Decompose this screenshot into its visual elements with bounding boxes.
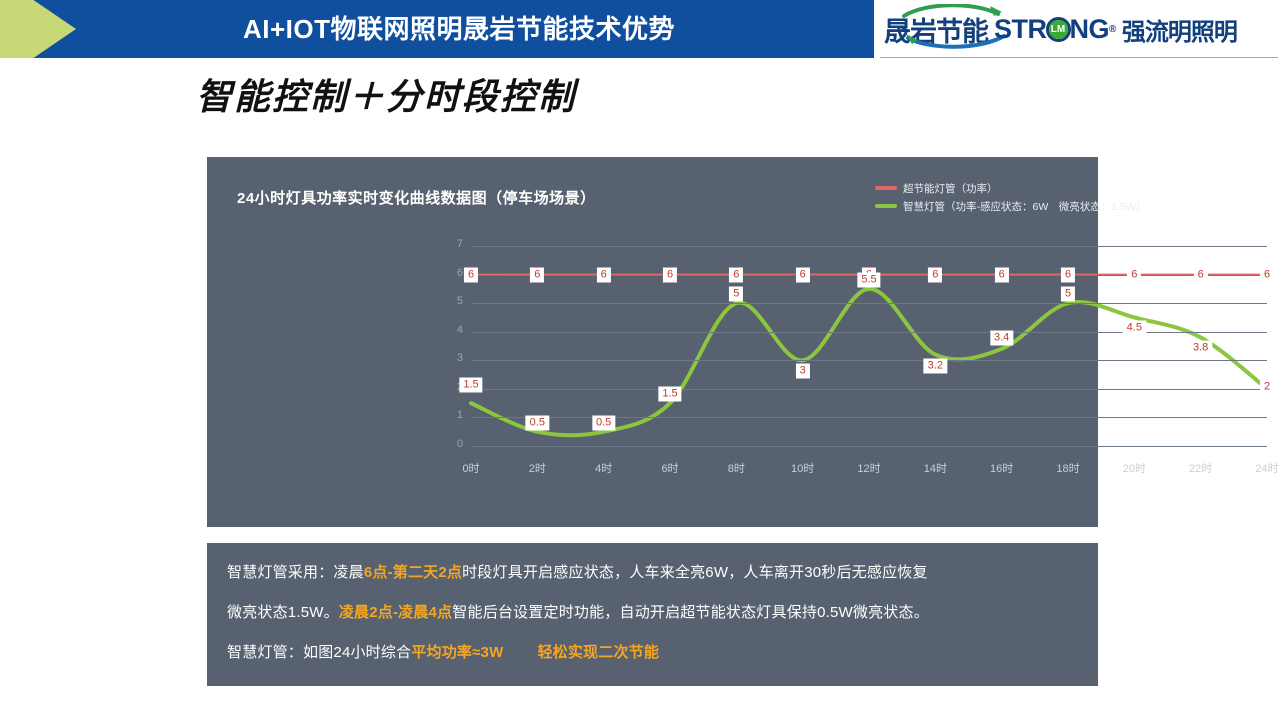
- note-text: 微亮状态1.5W。: [227, 604, 339, 621]
- logo-chinese-tail: 强流明照明: [1122, 12, 1237, 47]
- note-text: 时段灯具开启感应状态，人车来全亮6W，人车离开30秒后无感应恢复: [462, 564, 928, 581]
- logo-cn-text: 晟岩节能: [884, 17, 988, 47]
- data-label: 6: [729, 267, 743, 282]
- y-axis-tick: 0: [445, 438, 463, 450]
- chart-panel: 24小时灯具功率实时变化曲线数据图（停车场场景） 超节能灯管（功率）智慧灯管（功…: [207, 157, 1098, 527]
- data-label: 6: [663, 267, 677, 282]
- y-axis-tick: 4: [445, 324, 463, 336]
- data-label: 5: [729, 287, 743, 302]
- note-highlight: 轻松实现二次节能: [537, 644, 659, 661]
- chart-title: 24小时灯具功率实时变化曲线数据图（停车场场景）: [237, 187, 596, 208]
- data-label: 3.2: [924, 358, 947, 373]
- data-label: 4.5: [1123, 321, 1146, 336]
- gridline: [471, 446, 1267, 447]
- x-axis-tick: 0时: [462, 460, 479, 476]
- data-label: 6: [530, 267, 544, 282]
- y-axis-tick: 1: [445, 409, 463, 421]
- x-axis-tick: 4时: [595, 460, 612, 476]
- data-label: 5: [1061, 287, 1075, 302]
- note-text: 智慧灯管：如图24小时综合: [227, 644, 411, 661]
- note-text: 智能后台设置定时功能，自动开启超节能状态灯具保持0.5W微亮状态。: [452, 604, 929, 621]
- x-axis-tick: 10时: [791, 460, 814, 476]
- page-title: AI+IOT物联网照明晟岩节能技术优势: [64, 10, 854, 50]
- data-label: 6: [464, 267, 478, 282]
- note-highlight: 凌晨2点-凌晨4点: [339, 604, 452, 621]
- data-label: 6: [1061, 267, 1075, 282]
- x-axis-tick: 8时: [728, 460, 745, 476]
- note-line-1: 智慧灯管采用：凌晨6点-第二天2点时段灯具开启感应状态，人车来全亮6W，人车离开…: [227, 561, 1084, 582]
- series-line-1: [471, 289, 1267, 435]
- legend-item-0: 超节能灯管（功率）: [875, 179, 1146, 197]
- data-label: 6: [995, 267, 1009, 282]
- data-label: 6: [796, 267, 810, 282]
- y-axis-tick: 7: [445, 238, 463, 250]
- header-bar: AI+IOT物联网照明晟岩节能技术优势: [0, 0, 874, 58]
- gridline: [471, 332, 1267, 333]
- note-text: 智慧灯管采用：凌晨: [227, 564, 364, 581]
- legend-item-1: 智慧灯管（功率-感应状态：6W 微亮状态：1.5W）: [875, 197, 1146, 215]
- note-line-3: 智慧灯管：如图24小时综合平均功率≈3W轻松实现二次节能: [227, 641, 1084, 662]
- logo-strong-wordmark: STR LM NG ®: [994, 14, 1116, 45]
- gridline: [471, 246, 1267, 247]
- gridline: [471, 303, 1267, 304]
- legend-label: 智慧灯管（功率-感应状态：6W 微亮状态：1.5W）: [903, 199, 1146, 214]
- logo-lm-label: LM: [1049, 20, 1068, 39]
- gridline: [471, 389, 1267, 390]
- data-label: 3.4: [990, 330, 1013, 345]
- x-axis-tick: 12时: [857, 460, 880, 476]
- section-subtitle: 智能控制＋分时段控制: [196, 68, 576, 120]
- slide: AI+IOT物联网照明晟岩节能技术优势 晟岩节能 STR LM NG: [0, 0, 1280, 720]
- data-label: 3: [796, 364, 810, 379]
- data-label: 2: [1260, 379, 1274, 394]
- logo-o-icon: LM: [1046, 17, 1071, 42]
- data-label: 5.5: [857, 272, 880, 287]
- data-label: 1.5: [459, 378, 482, 393]
- x-axis-tick: 22时: [1189, 460, 1212, 476]
- notes-panel: 智慧灯管采用：凌晨6点-第二天2点时段灯具开启感应状态，人车来全亮6W，人车离开…: [207, 543, 1098, 686]
- note-highlight: 6点: [364, 564, 388, 581]
- logo-strong-pre: STR: [994, 14, 1047, 45]
- x-axis-tick: 20时: [1123, 460, 1146, 476]
- x-axis-tick: 24时: [1255, 460, 1278, 476]
- legend-label: 超节能灯管（功率）: [903, 181, 998, 196]
- data-label: 6: [1260, 267, 1274, 282]
- logo-underline: [880, 57, 1278, 58]
- legend-swatch-icon: [875, 204, 897, 208]
- chart-legend: 超节能灯管（功率）智慧灯管（功率-感应状态：6W 微亮状态：1.5W）: [875, 179, 1146, 215]
- data-label: 6: [597, 267, 611, 282]
- data-label: 0.5: [592, 415, 615, 430]
- y-axis-tick: 5: [445, 295, 463, 307]
- x-axis-tick: 16时: [990, 460, 1013, 476]
- note-highlight: 第二天2点: [393, 564, 462, 581]
- data-label: 3.8: [1189, 341, 1212, 356]
- logo-chinese-brand: 晟岩节能: [884, 10, 988, 49]
- x-axis-tick: 14时: [924, 460, 947, 476]
- registered-icon: ®: [1109, 24, 1116, 35]
- x-axis-tick: 18时: [1056, 460, 1079, 476]
- data-label: 6: [1194, 267, 1208, 282]
- logo-strong-post: NG: [1070, 14, 1110, 45]
- data-label: 1.5: [658, 387, 681, 402]
- note-line-2: 微亮状态1.5W。凌晨2点-凌晨4点智能后台设置定时功能，自动开启超节能状态灯具…: [227, 601, 1084, 622]
- y-axis-tick: 3: [445, 352, 463, 364]
- x-axis-tick: 6时: [661, 460, 678, 476]
- gridline: [471, 360, 1267, 361]
- brand-logo: 晟岩节能 STR LM NG ® 强流明照明: [874, 0, 1280, 58]
- data-label: 0.5: [526, 415, 549, 430]
- y-axis-tick: 6: [445, 267, 463, 279]
- gridline: [471, 417, 1267, 418]
- data-label: 6: [1127, 267, 1141, 282]
- legend-swatch-icon: [875, 186, 897, 190]
- data-label: 6: [928, 267, 942, 282]
- note-highlight: 平均功率≈3W: [411, 644, 503, 661]
- x-axis-tick: 2时: [529, 460, 546, 476]
